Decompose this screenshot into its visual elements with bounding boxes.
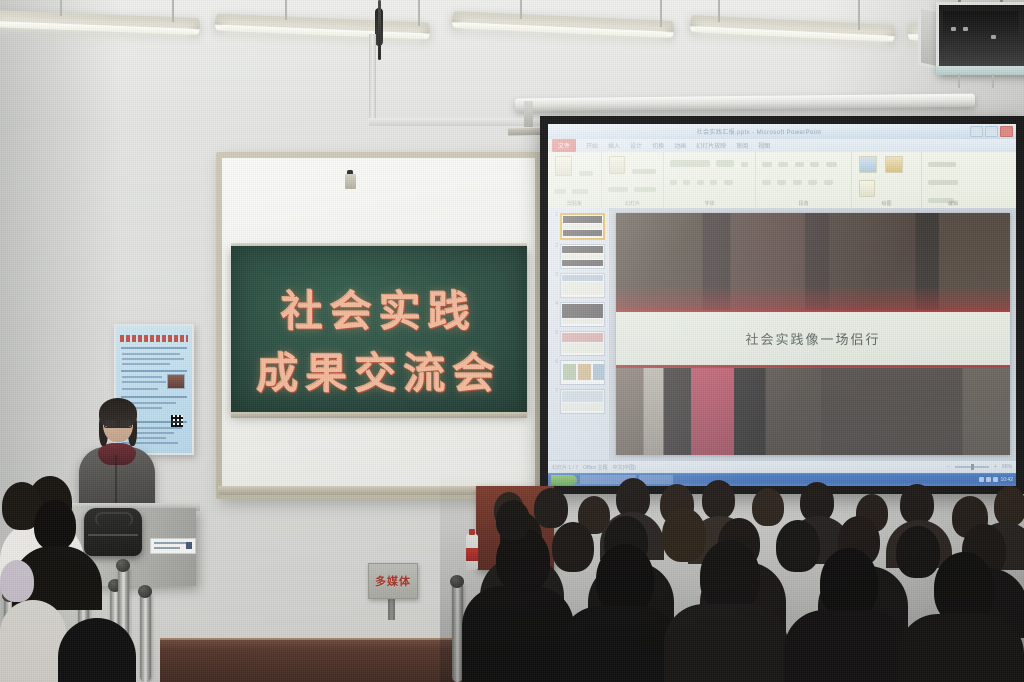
stanchion-band-2: [44, 628, 55, 637]
ribbon-group-font[interactable]: 字体: [664, 152, 756, 208]
slide-photo-collage-top: [616, 213, 1010, 310]
reset-icon[interactable]: [608, 187, 628, 192]
copy-icon[interactable]: [554, 189, 566, 194]
projector-cage: [936, 2, 1024, 74]
tab-review[interactable]: 审阅: [736, 141, 748, 150]
ribbon-group-drawing[interactable]: 绘图: [852, 152, 922, 208]
wall-conduit-vertical: [369, 34, 376, 126]
poster-rule-2: [121, 370, 187, 372]
slide-caption-band[interactable]: 社会实践像一场侣行: [616, 312, 1010, 365]
tab-design[interactable]: 设计: [630, 141, 642, 150]
poster-rule-3: [121, 396, 187, 398]
podium-name-plate: [150, 538, 196, 554]
poster-rule-1: [121, 347, 187, 349]
poster-header-text: [120, 335, 188, 342]
blackboard: 社会实践 成果交流会: [231, 246, 527, 414]
stanchion-cap-1: [2, 589, 16, 602]
classroom-presentation-scene: 社会实践 成果交流会 多媒体 社会实践汇报.p: [0, 0, 1024, 682]
stanchion-band-1: [4, 636, 15, 645]
shadow-icon[interactable]: [697, 180, 704, 185]
thumbnail-row[interactable]: 3: [552, 273, 605, 298]
poster-line: [122, 363, 170, 365]
thumbnail-row[interactable]: 7: [552, 389, 605, 414]
ribbon[interactable]: 剪贴板 幻灯片 字体: [548, 152, 1016, 209]
font-color-icon[interactable]: [724, 180, 733, 185]
ribbon-group-label: 段落: [756, 200, 851, 207]
underline-icon[interactable]: [683, 180, 690, 185]
ribbon-group-label: 编辑: [922, 200, 984, 207]
thumb-photo-cell: [563, 364, 576, 380]
light-rod-4: [418, 0, 420, 26]
thumb-photo-cell: [578, 364, 591, 380]
plate-logo-icon: [186, 542, 192, 549]
paste-icon[interactable]: [555, 156, 572, 176]
thumbnail-row[interactable]: 5: [552, 331, 605, 356]
line-spacing-icon[interactable]: [826, 162, 837, 167]
ribbon-group-clipboard[interactable]: 剪贴板: [548, 152, 602, 208]
multimedia-sign-label: 多媒体: [375, 573, 411, 589]
thumbnail-number: 1: [552, 213, 558, 218]
thumb-text-band: [562, 343, 603, 353]
speaker-collar: [98, 443, 136, 465]
tab-slideshow[interactable]: 幻灯片放映: [696, 141, 726, 150]
numbering-icon[interactable]: [778, 162, 788, 167]
powerpoint-title-bar: 社会实践汇报.pptx - Microsoft PowerPoint: [548, 124, 1016, 139]
tab-file[interactable]: 文件: [552, 139, 576, 152]
shapes-icon[interactable]: [859, 156, 877, 173]
projector-drop-rod-2: [992, 74, 994, 88]
thumbnail-slide-3[interactable]: [560, 273, 605, 298]
font-family-select[interactable]: [670, 160, 710, 167]
columns-icon[interactable]: [824, 180, 833, 185]
projected-desktop: 社会实践汇报.pptx - Microsoft PowerPoint 文件 开始…: [548, 124, 1016, 486]
projector-led-3: [991, 35, 996, 39]
blackboard-bottom-edge: [231, 412, 527, 418]
increase-indent-icon[interactable]: [810, 162, 819, 167]
tab-animations[interactable]: 动画: [674, 141, 686, 150]
thumbnail-row[interactable]: 1: [552, 213, 605, 240]
thumbnail-number: 4: [552, 302, 558, 307]
stanchion-cap-5: [138, 585, 152, 598]
ribbon-group-slides[interactable]: 幻灯片: [602, 152, 664, 208]
thumb-text-band: [562, 403, 603, 411]
poster-line: [122, 358, 184, 360]
cut-icon[interactable]: [579, 171, 593, 176]
thumb-photo-band: [563, 230, 602, 236]
poster-line: [122, 381, 166, 383]
projection-screen: 社会实践汇报.pptx - Microsoft PowerPoint 文件 开始…: [540, 116, 1024, 494]
thumbnail-number: 5: [552, 331, 558, 336]
glasses-lens-right: [119, 419, 132, 428]
thumbnail-slide-1[interactable]: [560, 213, 605, 240]
plate-line: [154, 547, 180, 549]
slide-editing-stage[interactable]: 社会实践像一场侣行: [610, 208, 1016, 460]
ribbon-group-editing[interactable]: 编辑: [922, 152, 984, 208]
stanchion-cap-3: [76, 593, 90, 606]
layout-icon[interactable]: [632, 169, 656, 174]
thumbnail-slide-6[interactable]: [560, 360, 605, 385]
zoom-slider[interactable]: [955, 466, 989, 468]
light-rod-5: [520, 0, 522, 19]
light-rod-2: [172, 0, 174, 22]
thumb-photo-band: [562, 304, 603, 318]
thumbnail-number: 6: [552, 360, 558, 365]
tab-home[interactable]: 开始: [586, 141, 598, 150]
new-slide-icon[interactable]: [609, 156, 625, 174]
powerpoint-title: 社会实践汇报.pptx - Microsoft PowerPoint: [548, 127, 970, 136]
projector-led-1: [951, 27, 956, 31]
ribbon-group-label: 幻灯片: [602, 200, 663, 207]
blackboard-title-line2: 成果交流会: [231, 340, 527, 401]
stanchion-pole-3: [78, 600, 89, 682]
hanging-cable: [378, 0, 381, 60]
ribbon-group-paragraph[interactable]: 段落: [756, 152, 852, 208]
light-rod-3: [285, 0, 287, 20]
align-left-icon[interactable]: [762, 180, 771, 185]
backpack-zipper: [88, 534, 138, 536]
align-right-icon[interactable]: [793, 180, 802, 185]
tab-view[interactable]: 视图: [758, 141, 770, 150]
thumb-photo-band: [562, 246, 603, 253]
multimedia-sign-post: [388, 596, 395, 620]
stanchion-pole-6: [118, 566, 129, 682]
strikethrough-icon[interactable]: [710, 180, 717, 185]
wall-conduit-horizontal: [369, 118, 544, 126]
thumb-text-band: [563, 224, 602, 229]
thumb-photo-band: [562, 275, 603, 281]
light-rod-7: [718, 0, 720, 22]
ribbon-group-label: 绘图: [852, 200, 921, 207]
minimize-icon[interactable]: [970, 126, 983, 137]
slide-caption-text: 社会实践像一场侣行: [745, 329, 880, 348]
multimedia-sign: 多媒体: [368, 563, 418, 599]
ribbon-group-label: 剪贴板: [548, 200, 601, 207]
align-center-icon[interactable]: [777, 180, 786, 185]
justify-icon[interactable]: [808, 180, 817, 185]
format-painter-icon[interactable]: [572, 189, 588, 194]
thumbnail-slide-7[interactable]: [560, 389, 605, 414]
replace-icon[interactable]: [928, 180, 958, 185]
poster-line: [122, 353, 180, 355]
thumbnail-slide-5[interactable]: [560, 331, 605, 356]
thumb-text-band: [562, 282, 603, 295]
light-rod-1: [60, 0, 62, 16]
thumb-photo-band: [563, 216, 602, 223]
slide-photo-collage-bottom: [616, 368, 1010, 455]
tab-insert[interactable]: 插入: [608, 141, 620, 150]
speaker-jacket-zipper: [115, 455, 117, 507]
poster-line: [122, 376, 162, 378]
thumbnail-slide-2[interactable]: [560, 244, 605, 269]
stanchion-cap-2: [42, 581, 56, 594]
projector-led-2: [963, 27, 968, 31]
thumbnail-row[interactable]: 6: [552, 360, 605, 385]
quick-styles-icon[interactable]: [859, 180, 875, 197]
glasses-lens-left: [104, 419, 117, 428]
projector-cage-base: [936, 66, 1024, 75]
window-controls[interactable]: [970, 126, 1013, 137]
tab-transitions[interactable]: 切换: [652, 141, 664, 150]
projection-screen-bracket: [524, 101, 533, 127]
arrange-icon[interactable]: [885, 156, 903, 173]
thumb-photo-band: [562, 260, 603, 266]
thumb-text-band: [562, 319, 603, 324]
poster-illustration: [167, 374, 185, 389]
projector-drop-rod-1: [958, 74, 960, 88]
light-rod-8: [858, 0, 860, 30]
backpack-strap: [95, 512, 133, 526]
thumb-text-band: [562, 254, 603, 259]
thumb-photo-cell: [593, 364, 605, 380]
thumb-photo-band: [562, 391, 603, 402]
speaker-glasses-icon: [104, 419, 132, 426]
ribbon-group-label: 字体: [664, 200, 755, 207]
thumbnail-number: 3: [552, 273, 558, 278]
light-rod-6: [660, 0, 662, 27]
thumb-photo-band: [562, 333, 603, 342]
maximize-icon[interactable]: [985, 126, 998, 137]
thumbnail-number: 2: [552, 244, 558, 249]
section-icon[interactable]: [634, 187, 656, 192]
slide-thumbnail-panel[interactable]: 1 2 3: [548, 208, 610, 460]
thumbnail-row[interactable]: 2: [552, 244, 605, 269]
stanchion-cap-6: [116, 559, 130, 572]
bold-icon[interactable]: [741, 162, 748, 167]
current-slide[interactable]: 社会实践像一场侣行: [616, 213, 1010, 455]
ribbon-tab-bar[interactable]: 文件 开始 插入 设计 切换 动画 幻灯片放映 审阅 视图: [548, 139, 1016, 153]
thumbnail-row[interactable]: 4: [552, 302, 605, 327]
decrease-indent-icon[interactable]: [795, 162, 804, 167]
stage-platform: [160, 640, 470, 682]
close-icon[interactable]: [1000, 126, 1013, 137]
stanchion-pole-5: [140, 592, 151, 682]
find-icon[interactable]: [928, 162, 956, 167]
thumbnail-number: 7: [552, 389, 558, 394]
whiteboard-clip: [345, 174, 356, 189]
bullets-icon[interactable]: [762, 162, 772, 167]
audience-shadow-overlay: [440, 470, 1024, 682]
italic-icon[interactable]: [670, 180, 677, 185]
font-size-select[interactable]: [716, 160, 734, 167]
poster-line: [122, 388, 158, 390]
blackboard-title-line1: 社会实践: [231, 278, 527, 339]
thumbnail-slide-4[interactable]: [560, 302, 605, 327]
